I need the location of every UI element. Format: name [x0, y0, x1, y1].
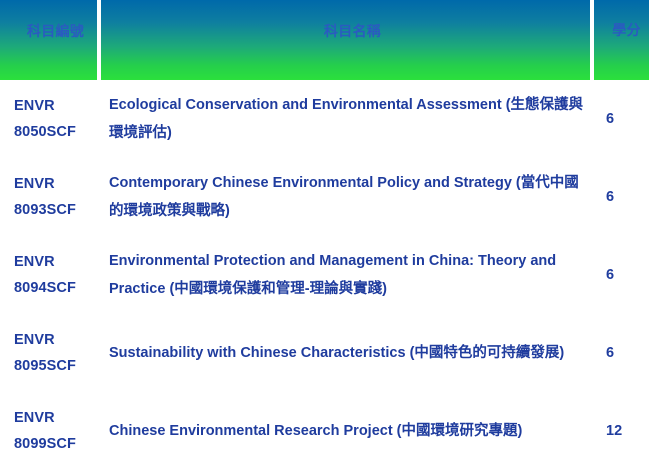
table-header: 科目編號 科目名稱 學分: [0, 0, 649, 80]
cell-subject-name: Contemporary Chinese Environmental Polic…: [101, 158, 594, 236]
column-header-subject-code: 科目編號: [0, 0, 101, 80]
cell-subject-code: ENVR 8093SCF: [0, 158, 101, 236]
subject-code-line-2: 8094SCF: [14, 275, 101, 301]
table-row: ENVR 8094SCF Environmental Protection an…: [0, 236, 649, 314]
subject-code-line-1: ENVR: [14, 405, 101, 431]
table-row: ENVR 8050SCF Ecological Conservation and…: [0, 80, 649, 158]
cell-subject-code: ENVR 8099SCF: [0, 392, 101, 470]
course-table-container: 科目編號 科目名稱 學分 ENVR 8050SCF Ecological Con…: [0, 0, 649, 468]
cell-credits: 6: [594, 158, 649, 236]
subject-code-line-2: 8095SCF: [14, 353, 101, 379]
column-header-credits-label: 學分: [594, 0, 649, 44]
cell-credits: 6: [594, 80, 649, 158]
cell-subject-code: ENVR 8050SCF: [0, 80, 101, 158]
cell-subject-name: Environmental Protection and Management …: [101, 236, 594, 314]
table-header-row: 科目編號 科目名稱 學分: [0, 0, 649, 80]
table-row: ENVR 8095SCF Sustainability with Chinese…: [0, 314, 649, 392]
course-list-table: 科目編號 科目名稱 學分 ENVR 8050SCF Ecological Con…: [0, 0, 649, 470]
cell-credits: 12: [594, 392, 649, 470]
subject-code-line-2: 8099SCF: [14, 431, 101, 457]
subject-code-line-1: ENVR: [14, 249, 101, 275]
column-header-subject-code-label: 科目編號: [0, 0, 97, 41]
table-row: ENVR 8093SCF Contemporary Chinese Enviro…: [0, 158, 649, 236]
subject-code-line-1: ENVR: [14, 171, 101, 197]
table-row: ENVR 8099SCF Chinese Environmental Resea…: [0, 392, 649, 470]
cell-subject-name: Ecological Conservation and Environmenta…: [101, 80, 594, 158]
cell-credits: 6: [594, 236, 649, 314]
column-header-subject-name: 科目名稱: [101, 0, 594, 80]
cell-subject-name: Chinese Environmental Research Project (…: [101, 392, 594, 470]
subject-code-line-1: ENVR: [14, 327, 101, 353]
subject-code-line-1: ENVR: [14, 93, 101, 119]
table-body: ENVR 8050SCF Ecological Conservation and…: [0, 80, 649, 470]
cell-subject-code: ENVR 8094SCF: [0, 236, 101, 314]
cell-credits: 6: [594, 314, 649, 392]
column-header-subject-name-label: 科目名稱: [101, 0, 590, 41]
cell-subject-name: Sustainability with Chinese Characterist…: [101, 314, 594, 392]
subject-code-line-2: 8050SCF: [14, 119, 101, 145]
subject-code-line-2: 8093SCF: [14, 197, 101, 223]
cell-subject-code: ENVR 8095SCF: [0, 314, 101, 392]
column-header-credits: 學分: [594, 0, 649, 80]
